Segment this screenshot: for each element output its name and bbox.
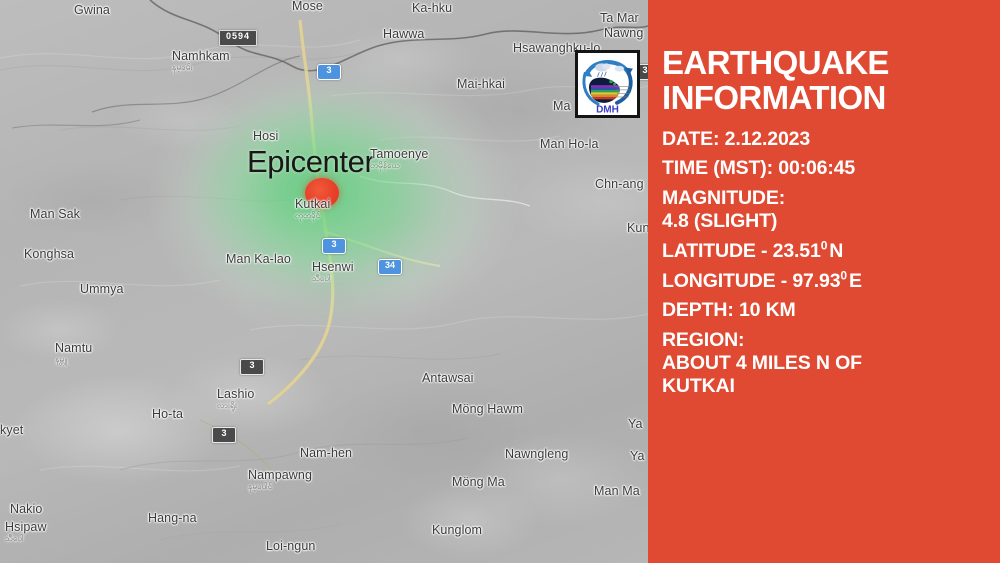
- place-name: Kutkai: [295, 197, 330, 211]
- map-place-label: Man Sak: [30, 208, 80, 221]
- place-name: Hawwa: [383, 27, 425, 41]
- place-name-local-script: နမ္တူ: [55, 356, 92, 364]
- place-name: Ya: [628, 417, 643, 431]
- panel-fields: DATE: 2.12.2023TIME (MST): 00:06:45MAGNI…: [662, 128, 986, 398]
- map-place-label: Nawngleng: [505, 448, 568, 461]
- place-name-local-script: လားရှိုး: [217, 402, 254, 410]
- map-place-label: Kutkaiကုတခိုင်: [295, 198, 330, 221]
- map-place-label: Hosi: [253, 130, 278, 143]
- map-place-label: Antawsai: [422, 372, 474, 385]
- map-place-label: Konghsa: [24, 248, 74, 261]
- map-place-label: Loi-ngun: [266, 540, 315, 553]
- info-field-latitude-value: LATITUDE - 23.51: [662, 240, 821, 262]
- map-place-label: Man Ka-lao: [226, 253, 291, 266]
- place-name: Nawng: [604, 26, 643, 40]
- map-place-label: Nam-hen: [300, 447, 352, 460]
- epicenter-label: Epicenter: [247, 144, 374, 180]
- place-name-local-script: တမိုန်ယေ: [370, 162, 428, 170]
- dmh-logo-caption: DMH: [596, 104, 619, 115]
- map-place-label: Ya: [630, 450, 645, 463]
- info-field-longitude-value: LONGITUDE - 97.93: [662, 270, 840, 292]
- place-name-local-script: သီပေါ: [312, 275, 354, 283]
- map-place-label: Hawwa: [383, 28, 425, 41]
- map-place-label: Möng Ma: [452, 476, 505, 489]
- place-name: Mai-hkai: [457, 77, 505, 91]
- road-shield[interactable]: 34: [378, 259, 402, 275]
- place-name: Man Sak: [30, 207, 80, 221]
- place-name: Hang-na: [148, 511, 197, 525]
- place-name-local-script: နမ့ခမ်း: [172, 64, 230, 72]
- road-shield[interactable]: 3: [240, 359, 264, 375]
- map-place-label: Hang-na: [148, 512, 197, 525]
- place-name: Namtu: [55, 341, 92, 355]
- map-place-label: Nawng: [604, 27, 643, 40]
- place-name: Nakio: [10, 502, 42, 516]
- place-name: Möng Ma: [452, 475, 505, 489]
- map-place-label: Lashioလားရှိုး: [217, 388, 254, 411]
- map-place-label: Ummya: [80, 283, 124, 296]
- place-name: Man Ka-lao: [226, 252, 291, 266]
- info-field-latitude: LATITUDE - 23.510N: [662, 240, 986, 263]
- place-name: Ma: [553, 99, 571, 113]
- info-field-latitude-hemisphere: N: [829, 240, 843, 262]
- place-name: Kun: [627, 221, 648, 235]
- dmh-logo: DMH: [575, 50, 640, 118]
- place-name: Hosi: [253, 129, 278, 143]
- map-place-label: Ho-ta: [152, 408, 183, 421]
- place-name: Ho-ta: [152, 407, 183, 421]
- map-place-label: Mai-hkai: [457, 78, 505, 91]
- place-name: Nam-hen: [300, 446, 352, 460]
- map-place-label: Gwina: [74, 4, 110, 17]
- map-place-label: Ka-hku: [412, 2, 452, 15]
- map-place-label: Kun: [627, 222, 648, 235]
- place-name: Hsenwi: [312, 260, 354, 274]
- map-place-label: Möng Hawm: [452, 403, 523, 416]
- map-place-label: Namtuနမ္တူ: [55, 342, 92, 365]
- place-name: Man Ho-la: [540, 137, 599, 151]
- place-name-local-script: နမ့ပေါင်: [248, 483, 312, 491]
- degree-symbol: 0: [821, 238, 828, 252]
- road-shield[interactable]: 3: [212, 427, 236, 443]
- info-field-longitude-hemisphere: E: [849, 270, 862, 292]
- place-name: Nawngleng: [505, 447, 568, 461]
- place-name: Chn-ang: [595, 177, 644, 191]
- place-name-local-script: သီပေါ: [5, 535, 47, 543]
- info-field-date: DATE: 2.12.2023: [662, 128, 986, 151]
- map-place-label: Mose: [292, 0, 323, 13]
- info-field-region: REGION: ABOUT 4 MILES N OF KUTKAI: [662, 329, 986, 397]
- place-name: Ya: [630, 449, 645, 463]
- info-field-depth: DEPTH: 10 KM: [662, 299, 986, 322]
- info-field-longitude: LONGITUDE - 97.930E: [662, 270, 986, 293]
- road-shield[interactable]: 0594: [219, 30, 257, 46]
- place-name: Lashio: [217, 387, 254, 401]
- map-place-label: kyet: [0, 424, 23, 437]
- place-name: Mose: [292, 0, 323, 13]
- place-name: Loi-ngun: [266, 539, 315, 553]
- map-place-label: Ya: [628, 418, 643, 431]
- map-place-label: Ma: [553, 100, 571, 113]
- map-place-label: Kunglom: [432, 524, 482, 537]
- place-name: Gwina: [74, 3, 110, 17]
- map-place-label: Man Ma: [594, 485, 640, 498]
- road-shield[interactable]: 3: [317, 64, 341, 80]
- place-name: Kunglom: [432, 523, 482, 537]
- place-name: Antawsai: [422, 371, 474, 385]
- place-name: Konghsa: [24, 247, 74, 261]
- place-name: Ta Mar: [600, 11, 639, 25]
- place-name: Hsipaw: [5, 520, 47, 534]
- place-name: Ka-hku: [412, 1, 452, 15]
- earthquake-info-panel: EARTHQUAKE INFORMATION DATE: 2.12.2023TI…: [648, 0, 1000, 563]
- place-name: Möng Hawm: [452, 402, 523, 416]
- map-place-label: Chn-ang: [595, 178, 644, 191]
- road-shield[interactable]: 3: [322, 238, 346, 254]
- place-name: Nampawng: [248, 468, 312, 482]
- place-name: Man Ma: [594, 484, 640, 498]
- dmh-logo-artwork: DMH: [578, 53, 637, 115]
- place-name: Namhkam: [172, 49, 230, 63]
- map-place-label: Ta Mar: [600, 12, 639, 25]
- screenshot-root: Epicenter GwinaMoseKa-hkuTa MarNawngNamh…: [0, 0, 1000, 563]
- map-place-label: Man Ho-la: [540, 138, 599, 151]
- map-place-label: Tamoenyeတမိုန်ယေ: [370, 148, 428, 171]
- map-canvas[interactable]: Epicenter GwinaMoseKa-hkuTa MarNawngNamh…: [0, 0, 648, 563]
- degree-symbol: 0: [840, 268, 847, 282]
- place-name: Tamoenye: [370, 147, 428, 161]
- panel-title: EARTHQUAKE INFORMATION: [662, 45, 986, 116]
- map-place-label: Hsipawသီပေါ: [5, 521, 47, 544]
- info-field-magnitude: MAGNITUDE: 4.8 (SLIGHT): [662, 187, 986, 233]
- map-place-label: Nakio: [10, 503, 42, 516]
- place-name-local-script: ကုတခိုင်: [295, 212, 330, 220]
- place-name: Ummya: [80, 282, 124, 296]
- map-place-label: Hsenwiသီပေါ: [312, 261, 354, 284]
- info-field-time: TIME (MST): 00:06:45: [662, 157, 986, 180]
- map-place-label: Namhkamနမ့ခမ်း: [172, 50, 230, 73]
- map-place-label: Nampawngနမ့ပေါင်: [248, 469, 312, 492]
- place-name: kyet: [0, 423, 23, 437]
